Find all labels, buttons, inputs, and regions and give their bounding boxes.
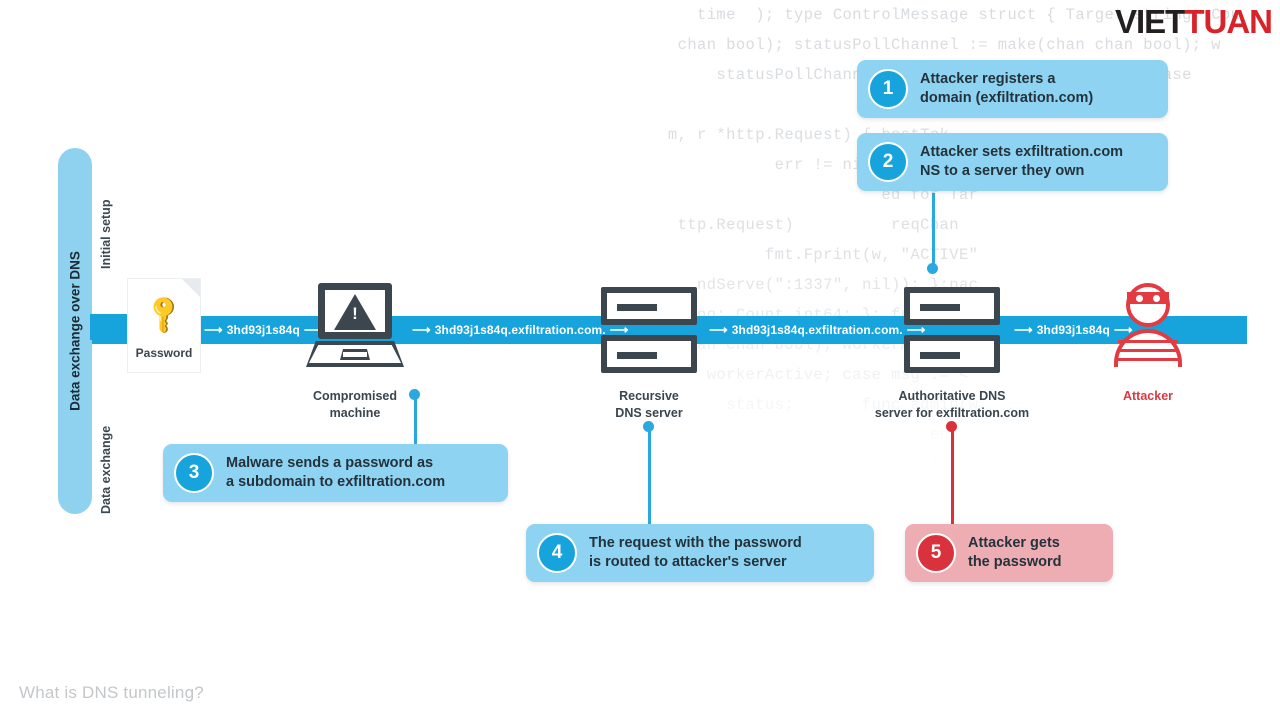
arrow-right-icon: ⟶ <box>200 322 227 337</box>
server-unit-top <box>904 287 1000 325</box>
callout-step-3[interactable]: 3 Malware sends a password as a subdomai… <box>163 444 508 502</box>
viettuan-logo: VIETTUAN <box>1115 2 1272 42</box>
attacker-icon <box>1112 283 1184 367</box>
server-unit-top <box>601 287 697 325</box>
arrow-right-icon: ⟶ <box>408 322 435 337</box>
phase-label-data-exchange: Data exchange <box>99 426 113 514</box>
connector-callout-5 <box>951 428 954 525</box>
attacker-stripe <box>1118 349 1178 353</box>
callout-1-badge: 1 <box>868 69 908 109</box>
flow-label-4-text: 3hd93j1s84q <box>1037 323 1110 337</box>
attacker-stripe <box>1118 358 1178 362</box>
key-icon: 🔑 <box>128 278 200 350</box>
connector-callout-3 <box>414 397 417 445</box>
connector-dot-callout-2 <box>927 263 938 274</box>
authoritative-dns-server-icon <box>904 287 1000 373</box>
phase-label-initial-setup: Initial setup <box>99 200 113 269</box>
compromised-machine-label: Compromised machine <box>280 388 430 422</box>
laptop-screen: ! <box>318 283 392 339</box>
attacker-stripe <box>1118 340 1178 344</box>
compromised-machine-icon: ! <box>306 283 404 367</box>
page-caption: What is DNS tunneling? <box>19 683 204 703</box>
callout-4-text: The request with the password is routed … <box>589 534 802 572</box>
server-unit-bottom <box>904 335 1000 373</box>
callout-step-5[interactable]: 5 Attacker gets the password <box>905 524 1113 582</box>
diagram-canvas: time ); type ControlMessage struct { Tar… <box>0 0 1280 720</box>
warning-exclamation: ! <box>352 305 358 323</box>
attacker-mask <box>1127 292 1169 304</box>
flow-label-1: ⟶3hd93j1s84q⟶ <box>200 316 300 344</box>
logo-part-viet: VIET <box>1115 3 1184 40</box>
callout-3-text: Malware sends a password as a subdomain … <box>226 454 445 492</box>
attacker-label: Attacker <box>1088 388 1208 405</box>
arrow-right-icon: ⟶ <box>705 322 732 337</box>
flow-label-3-text: 3hd93j1s84q.exfiltration.com. <box>732 323 903 337</box>
attacker-head <box>1126 283 1170 327</box>
server-bar <box>920 304 960 311</box>
callout-4-badge: 4 <box>537 533 577 573</box>
server-bar <box>920 352 960 359</box>
callout-1-text: Attacker registers a domain (exfiltratio… <box>920 70 1093 108</box>
recursive-dns-server-icon <box>601 287 697 373</box>
server-unit-bottom <box>601 335 697 373</box>
authoritative-dns-label: Authoritative DNS server for exfiltratio… <box>842 388 1062 422</box>
callout-step-1[interactable]: 1 Attacker registers a domain (exfiltrat… <box>857 60 1168 118</box>
flow-label-3: ⟶3hd93j1s84q.exfiltration.com.⟶ <box>705 316 901 344</box>
callout-5-text: Attacker gets the password <box>968 534 1061 572</box>
attacker-eye-left <box>1136 295 1143 302</box>
logo-part-tuan: TUAN <box>1184 3 1272 40</box>
connector-callout-2 <box>932 193 935 269</box>
connector-dot-callout-4 <box>643 421 654 432</box>
flow-label-2: ⟶3hd93j1s84q.exfiltration.com.⟶ <box>408 316 604 344</box>
callout-2-badge: 2 <box>868 142 908 182</box>
vertical-pill-label: Data exchange over DNS <box>68 251 83 411</box>
arrow-right-icon: ⟶ <box>1010 322 1037 337</box>
callout-step-4[interactable]: 4 The request with the password is route… <box>526 524 874 582</box>
callout-5-badge: 5 <box>916 533 956 573</box>
callout-2-text: Attacker sets exfiltration.com NS to a s… <box>920 143 1123 181</box>
connector-callout-4 <box>648 428 651 525</box>
recursive-dns-label: Recursive DNS server <box>574 388 724 422</box>
attacker-eye-right <box>1153 295 1160 302</box>
connector-dot-callout-5 <box>946 421 957 432</box>
server-bar <box>617 352 657 359</box>
password-document-label: Password <box>128 346 200 360</box>
server-bar <box>617 304 657 311</box>
laptop-trackpad <box>340 349 370 360</box>
flow-label-2-text: 3hd93j1s84q.exfiltration.com. <box>435 323 606 337</box>
connector-dot-callout-3 <box>409 389 420 400</box>
data-exchange-over-dns-pill: Data exchange over DNS <box>58 148 92 514</box>
callout-step-2[interactable]: 2 Attacker sets exfiltration.com NS to a… <box>857 133 1168 191</box>
password-document: 🔑 Password <box>128 279 200 372</box>
flow-label-1-text: 3hd93j1s84q <box>227 323 300 337</box>
flow-label-4: ⟶3hd93j1s84q⟶ <box>1010 316 1110 344</box>
callout-3-badge: 3 <box>174 453 214 493</box>
